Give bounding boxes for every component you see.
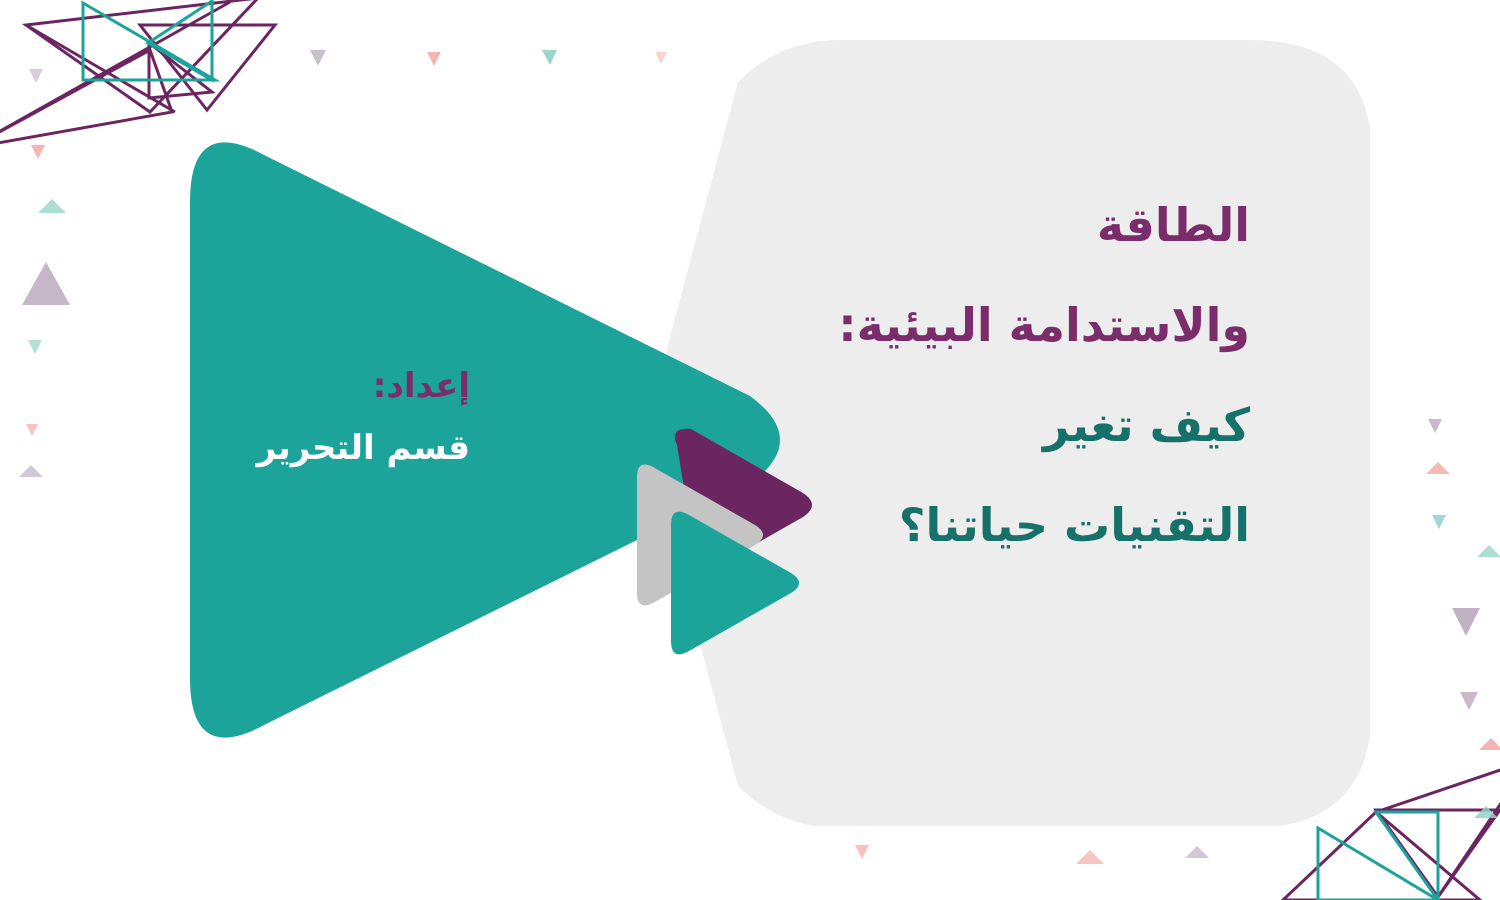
accent-triangle-up-pink-2 (1479, 738, 1500, 750)
author-name: قسم التحرير (140, 417, 470, 479)
accent-triangle-down-pink-4 (26, 424, 38, 436)
accent-triangle-down-pink-3 (31, 145, 45, 159)
accent-triangle-up-pink-3 (1076, 850, 1104, 864)
accent-triangle-down-gray-5 (1460, 692, 1478, 710)
accent-triangle-down-gray-1 (310, 50, 326, 66)
accent-triangle-up-gray-1 (22, 262, 70, 305)
title-line-1: الطاقة (630, 175, 1250, 275)
accent-triangle-down-gray-4 (1452, 608, 1480, 636)
outline-triangle-br-teal-b (1376, 812, 1438, 900)
outline-triangle-purple-a (140, 25, 275, 110)
accent-triangle-down-teal-1 (542, 50, 557, 65)
accent-triangle-down-pink-5 (855, 845, 869, 859)
accent-triangle-down-gray-3 (1428, 419, 1442, 433)
slide-canvas: الطاقة والاستدامة البيئية: كيف تغير التق… (0, 0, 1500, 900)
accent-triangle-up-teal-3 (1474, 806, 1498, 818)
accent-triangle-down-teal-2 (28, 340, 42, 354)
outline-triangle-purple-d (149, 43, 212, 98)
accent-triangle-down-pink-1 (427, 52, 441, 66)
accent-triangle-down-gray-2 (29, 69, 43, 83)
accent-triangle-up-gray-2 (19, 465, 43, 477)
author-label: إعداد: (140, 355, 470, 417)
outline-triangle-br-purple-a (1376, 810, 1500, 897)
outline-triangle-purple-b (26, 0, 258, 112)
accent-triangle-up-gray-3 (1185, 846, 1209, 858)
title-line-2: والاستدامة البيئية: (630, 275, 1250, 375)
outline-triangle-br-purple-b (1376, 760, 1500, 897)
accent-triangle-up-teal-1 (38, 199, 66, 213)
outline-triangle-teal-a (83, 3, 215, 80)
outline-line-purple-diag2 (26, 25, 175, 112)
author-credit: إعداد: قسم التحرير (140, 355, 470, 479)
outline-triangle-teal-b (148, 1, 212, 80)
outline-triangle-br-teal-a (1318, 828, 1438, 900)
accent-triangle-up-teal-2 (1477, 545, 1500, 557)
title-line-4: التقنيات حياتنا؟ (630, 475, 1250, 575)
slide-title: الطاقة والاستدامة البيئية: كيف تغير التق… (630, 175, 1250, 575)
title-line-3: كيف تغير (630, 375, 1250, 475)
accent-triangle-up-pink-1 (1426, 462, 1450, 474)
accent-triangle-down-teal-3 (1432, 515, 1446, 529)
outline-triangle-purple-c (0, 50, 172, 148)
